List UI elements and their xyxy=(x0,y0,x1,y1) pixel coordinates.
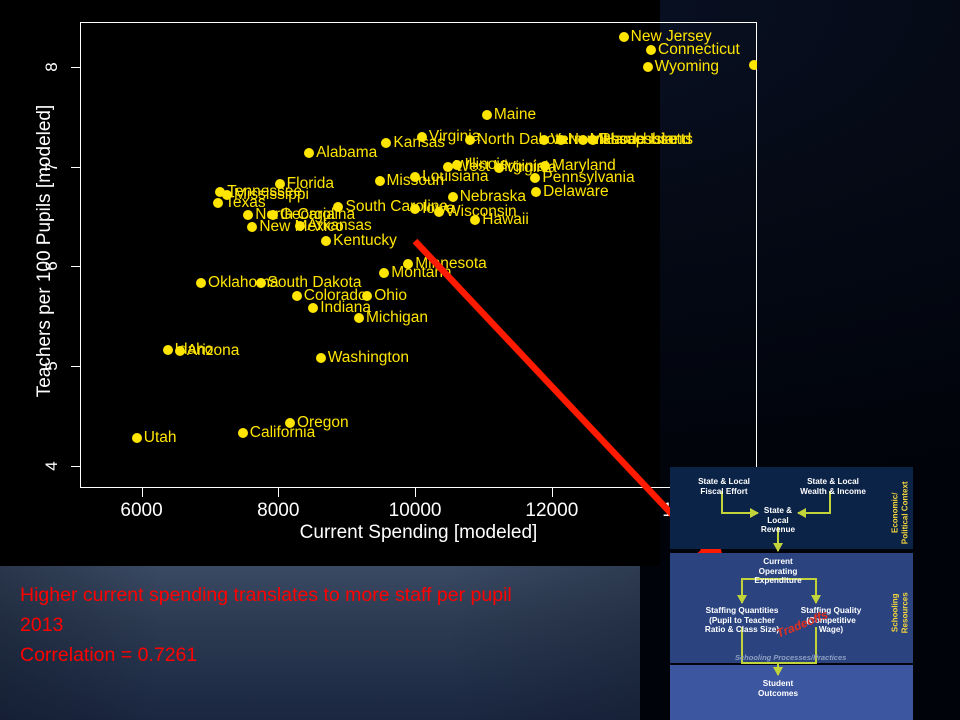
y-axis-tick xyxy=(71,167,80,168)
diagram-box-current-operating-expenditure: Current Operating Expenditure xyxy=(742,557,814,586)
x-axis-tick xyxy=(142,488,143,497)
y-axis-tick xyxy=(71,366,80,367)
fiscal-effort-line2: Fiscal Effort xyxy=(684,487,764,497)
diagram-arrows xyxy=(670,467,960,720)
diagram-side-label-economic-line1: Economic/ xyxy=(890,473,900,553)
plot-frame xyxy=(80,22,757,488)
x-axis-tick-label: 12000 xyxy=(525,500,578,522)
expenditure-line1: Current xyxy=(742,557,814,567)
wealth-income-line1: State & Local xyxy=(790,477,876,487)
revenue-line3: Revenue xyxy=(746,525,810,535)
caption-line-2: 2013 xyxy=(20,610,620,640)
x-axis-tick xyxy=(415,488,416,497)
wealth-income-line2: Wealth & Income xyxy=(790,487,876,497)
x-axis-tick-label: 6000 xyxy=(120,500,162,522)
outcomes-line1: Student xyxy=(742,679,814,689)
scatter-plot-panel: New JerseyConnecticutWyomingNew YorkMain… xyxy=(0,0,660,566)
quality-line1: Staffing Quality xyxy=(776,606,886,616)
y-axis-tick xyxy=(71,466,80,467)
x-axis-title: Current Spending [modeled] xyxy=(80,522,757,544)
caption-line-1: Higher current spending translates to mo… xyxy=(20,580,620,610)
x-axis-tick-label: 10000 xyxy=(389,500,442,522)
diagram-box-student-outcomes: Student Outcomes xyxy=(742,679,814,698)
diagram-box-wealth-income: State & Local Wealth & Income xyxy=(790,477,876,496)
x-axis-tick xyxy=(278,488,279,497)
diagram-box-fiscal-effort: State & Local Fiscal Effort xyxy=(684,477,764,496)
y-axis-tick xyxy=(71,266,80,267)
expenditure-line2: Operating xyxy=(742,567,814,577)
x-axis-tick xyxy=(552,488,553,497)
diagram-side-label-resources-line1: Schooling xyxy=(890,578,900,648)
conceptual-framework-diagram: State & Local Fiscal Effort State & Loca… xyxy=(670,467,960,720)
revenue-line2: Local xyxy=(746,516,810,526)
revenue-line1: State & xyxy=(746,506,810,516)
y-axis-tick-label: 4 xyxy=(42,456,62,476)
caption-line-3: Correlation = 0.7261 xyxy=(20,640,620,670)
fiscal-effort-line1: State & Local xyxy=(684,477,764,487)
outcomes-line2: Outcomes xyxy=(742,689,814,699)
slide-caption: Higher current spending translates to mo… xyxy=(20,580,620,670)
y-axis-tick xyxy=(71,67,80,68)
y-axis-title: Teachers per 100 Pupils [modeled] xyxy=(34,51,56,451)
diagram-box-state-local-revenue: State & Local Revenue xyxy=(746,506,810,535)
diagram-side-label-economic-line2: Political Context xyxy=(900,473,910,553)
x-axis-tick-label: 8000 xyxy=(257,500,299,522)
diagram-side-label-resources-line2: Resources xyxy=(900,578,910,648)
expenditure-line3: Expenditure xyxy=(742,576,814,586)
diagram-label-schooling-processes: Schooling Processes/Practices xyxy=(735,653,846,662)
